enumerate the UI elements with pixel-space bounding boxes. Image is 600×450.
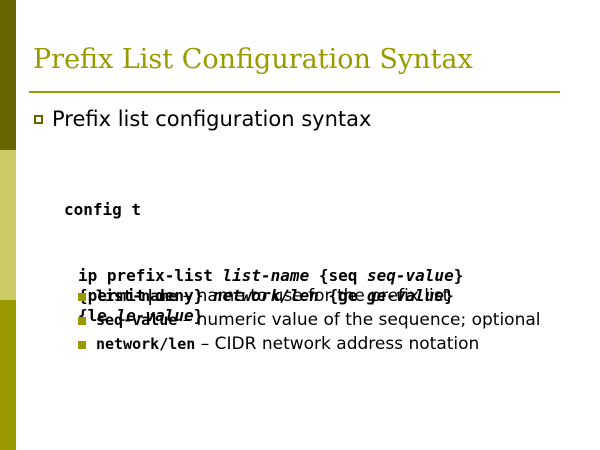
title-divider (29, 91, 560, 93)
sidebar-segment-top (0, 0, 16, 150)
code-line1-cmd: ip prefix-list (78, 266, 223, 285)
level1-bullet-item: Prefix list configuration syntax (34, 106, 371, 132)
sidebar-segment-middle (0, 150, 16, 300)
list-item: list-name – name to use for the prefix l… (78, 285, 583, 307)
definition-description: – name to use for the prefix list (177, 286, 449, 306)
definition-text: network/len – CIDR network address notat… (96, 333, 479, 355)
square-solid-bullet-icon (78, 293, 86, 301)
level1-bullet-label: Prefix list configuration syntax (52, 106, 371, 132)
definition-term: list-name (96, 287, 177, 305)
code-line1-close: } (454, 266, 464, 285)
square-solid-bullet-icon (78, 317, 86, 325)
list-item: network/len – CIDR network address notat… (78, 333, 583, 355)
code-line-config: config t (64, 200, 463, 220)
definition-term: seq-value (96, 311, 177, 329)
definition-description: – CIDR network address notation (195, 334, 479, 354)
decorative-sidebar (0, 0, 16, 450)
code-line1-seq: {seq (309, 266, 367, 285)
definition-text: seq-value – numeric value of the sequenc… (96, 309, 541, 331)
code-line1-seqvalue: seq-value (367, 266, 454, 285)
code-line1-listname: list-name (223, 266, 310, 285)
definition-list: list-name – name to use for the prefix l… (78, 285, 583, 357)
list-item: seq-value – numeric value of the sequenc… (78, 309, 583, 331)
definition-description: – numeric value of the sequence; optiona… (177, 310, 540, 330)
definition-text: list-name – name to use for the prefix l… (96, 285, 449, 307)
square-solid-bullet-icon (78, 341, 86, 349)
sidebar-segment-bottom (0, 300, 16, 450)
page-title: Prefix List Configuration Syntax (33, 44, 473, 75)
definition-term: network/len (96, 335, 195, 353)
slide-content: Prefix List Configuration Syntax Prefix … (16, 0, 600, 450)
square-outline-bullet-icon (34, 115, 43, 124)
